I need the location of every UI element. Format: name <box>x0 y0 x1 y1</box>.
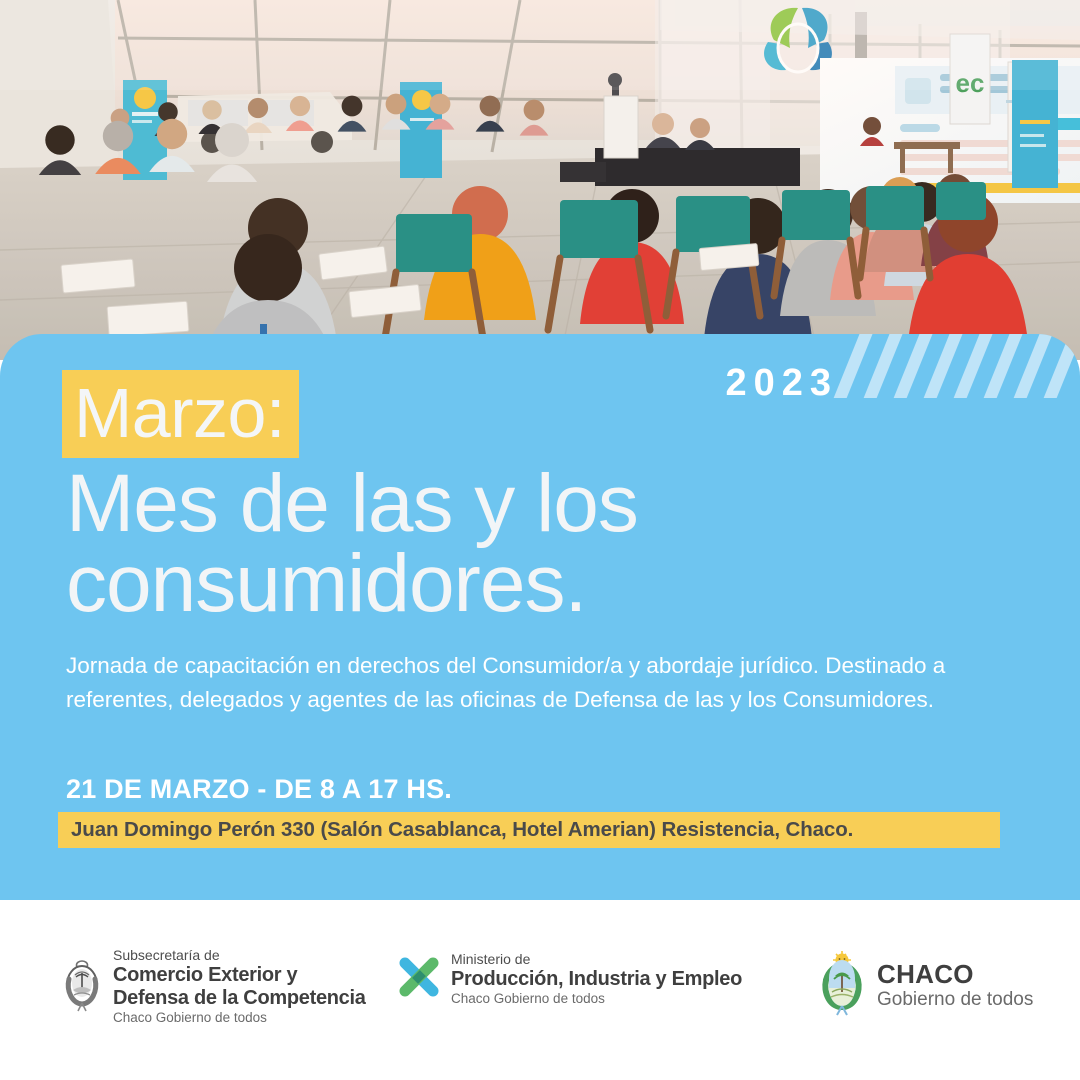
event-address-text: Juan Domingo Perón 330 (Salón Casablanca… <box>58 818 853 842</box>
event-photo: ec ec <box>0 0 1080 360</box>
chaco-x-mark-svg <box>398 956 440 998</box>
logo-1-subtitle: Chaco Gobierno de todos <box>113 1010 366 1025</box>
headline-line-2: consumidores. <box>66 544 866 624</box>
chaco-provincial-shield-icon <box>818 950 866 1021</box>
argentina-coat-of-arms-svg <box>62 953 102 1015</box>
chaco-x-mark-icon <box>398 956 440 1003</box>
logo-1-title-line-2: Defensa de la Competencia <box>113 987 366 1010</box>
logo-subsecretaria-text: Subsecretaría de Comercio Exterior y Def… <box>113 948 366 1025</box>
logo-subsecretaria-comercio-exterior: Subsecretaría de Comercio Exterior y Def… <box>62 948 366 1025</box>
logo-ministerio-text: Ministerio de Producción, Industria y Em… <box>451 952 742 1006</box>
month-highlight-tag: Marzo: <box>62 370 299 458</box>
poster-canvas: ec ec <box>0 0 1080 1080</box>
logo-chaco-text: CHACO Gobierno de todos <box>877 960 1033 1011</box>
logo-chaco-gobierno: CHACO Gobierno de todos <box>818 950 1033 1021</box>
logo-2-subtitle: Chaco Gobierno de todos <box>451 991 742 1006</box>
headline-title: Mes de las y los consumidores. <box>66 464 866 625</box>
logo-2-eyebrow: Ministerio de <box>451 952 742 968</box>
logo-1-title-line-1: Comercio Exterior y <box>113 964 366 987</box>
event-datetime: 21 DE MARZO - DE 8 A 17 HS. <box>66 774 452 805</box>
logo-3-title: CHACO <box>877 960 1033 990</box>
headline-group: Marzo: Mes de las y los consumidores. <box>66 370 1006 625</box>
logo-2-title-line-1: Producción, Industria y Empleo <box>451 968 742 991</box>
logo-1-eyebrow: Subsecretaría de <box>113 948 366 964</box>
event-description: Jornada de capacitación en derechos del … <box>66 649 996 717</box>
logo-3-subtitle: Gobierno de todos <box>877 989 1033 1011</box>
event-photo-illustration: ec ec <box>0 0 1080 360</box>
event-address-bar: Juan Domingo Perón 330 (Salón Casablanca… <box>58 812 1000 848</box>
chaco-provincial-shield-svg <box>818 950 866 1016</box>
content-panel: 2023 Marzo: Mes de las y los consumidore… <box>0 334 1080 900</box>
argentina-coat-of-arms-icon <box>62 953 102 1020</box>
logo-ministerio-produccion: Ministerio de Producción, Industria y Em… <box>398 952 742 1006</box>
headline-line-1: Mes de las y los <box>66 464 866 544</box>
